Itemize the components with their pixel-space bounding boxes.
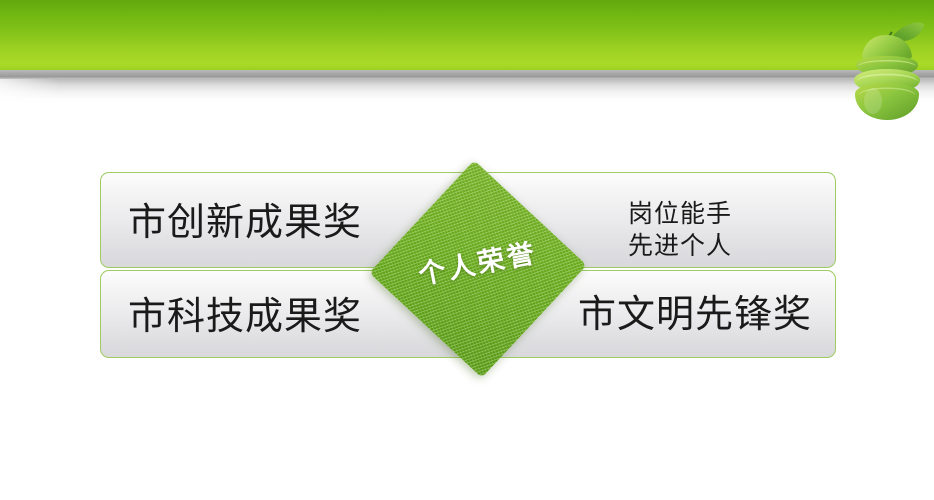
- honor-label-top-right-line2: 先进个人: [628, 230, 732, 262]
- honor-label-top-right-line1: 岗位能手: [628, 198, 732, 230]
- header-drop-shadow-fade: [0, 79, 60, 105]
- sliced-green-apple-icon: [842, 8, 928, 126]
- header-underbar-divider: [0, 70, 934, 79]
- slide-canvas: 主要荣誉: [0, 0, 934, 500]
- honor-label-bottom-left: 市科技成果奖: [128, 294, 362, 338]
- header-bar: [0, 0, 934, 70]
- honor-label-top-right: 岗位能手 先进个人: [628, 198, 732, 262]
- honor-label-bottom-right: 市文明先锋奖: [578, 292, 812, 336]
- honor-label-top-left: 市创新成果奖: [128, 200, 362, 244]
- header-drop-shadow: [0, 79, 934, 105]
